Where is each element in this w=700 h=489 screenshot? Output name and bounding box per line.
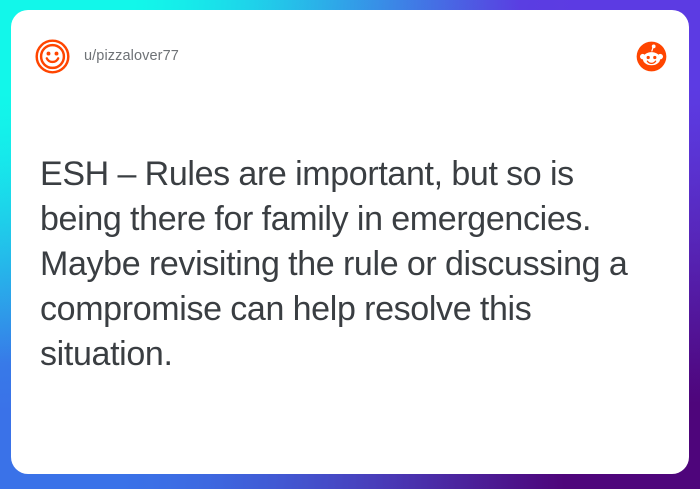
card-body: ESH – Rules are important, but so is bei…: [11, 102, 689, 474]
comment-text: ESH – Rules are important, but so is bei…: [40, 152, 663, 377]
screenshot-root: u/pizzalover77 ESH – Rules are imp: [0, 0, 700, 489]
card-header: u/pizzalover77: [11, 10, 689, 102]
smiley-face-icon[interactable]: [34, 38, 71, 75]
author-block[interactable]: u/pizzalover77: [34, 38, 179, 75]
author-username: u/pizzalover77: [84, 48, 179, 64]
reddit-snoo-icon[interactable]: [636, 41, 667, 72]
reddit-comment-card: u/pizzalover77 ESH – Rules are imp: [11, 10, 689, 474]
